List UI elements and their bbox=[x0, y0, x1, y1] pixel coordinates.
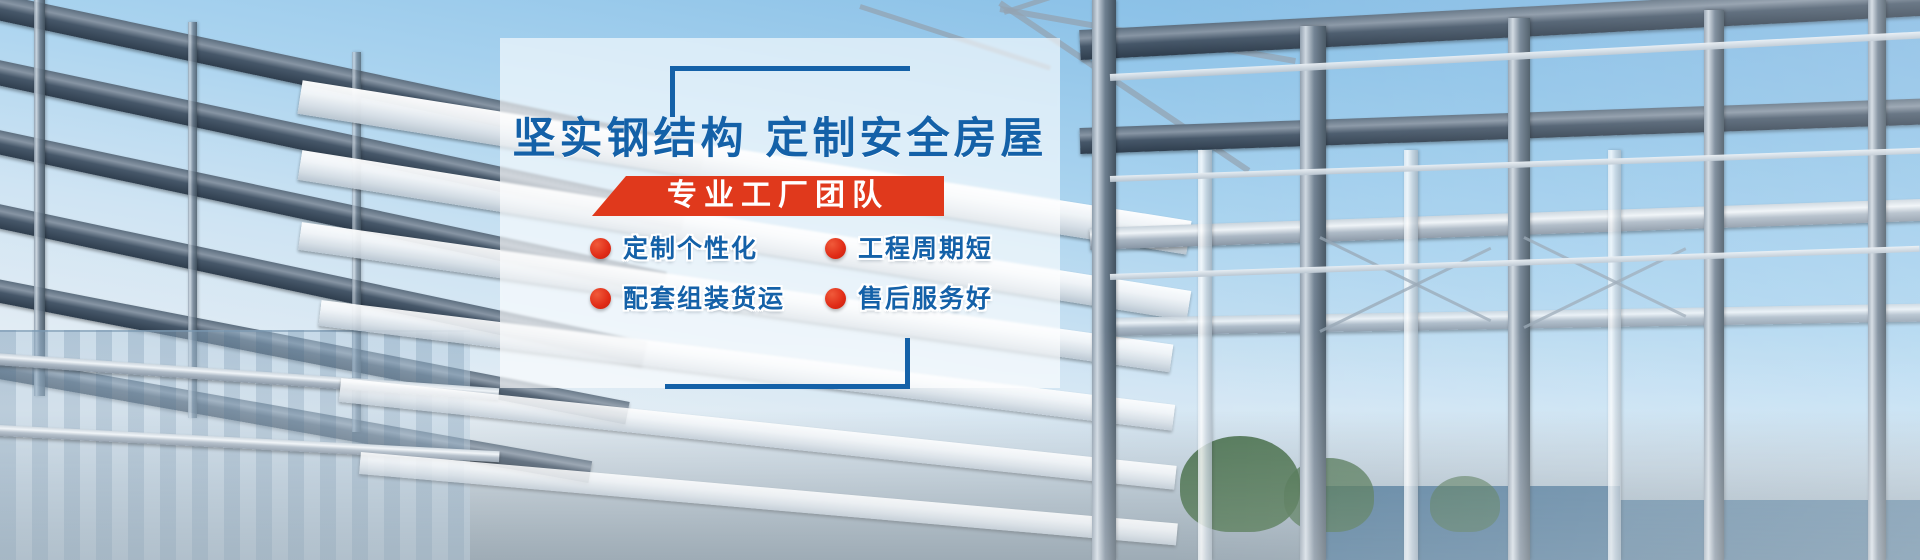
tree-cluster bbox=[1284, 458, 1374, 532]
page-title: 坚实钢结构定制安全房屋 bbox=[500, 118, 1060, 161]
steel-column bbox=[1868, 0, 1886, 560]
feature-label: 售后服务好 bbox=[858, 286, 993, 311]
steel-column bbox=[1508, 18, 1530, 560]
steel-column bbox=[1608, 150, 1621, 560]
feature-item: 工程周期短 bbox=[825, 228, 1060, 268]
red-dot-icon bbox=[825, 288, 846, 309]
steel-column bbox=[1300, 26, 1326, 560]
feature-label: 工程周期短 bbox=[858, 236, 993, 261]
steel-column bbox=[1404, 150, 1418, 560]
promo-banner: 坚实钢结构定制安全房屋 专业工厂团队 定制个性化 工程周期短 配套组装货运 售后… bbox=[0, 0, 1920, 560]
tree-cluster bbox=[1430, 476, 1500, 532]
corner-bracket-bottom-left-icon bbox=[665, 338, 910, 389]
feature-label: 配套组装货运 bbox=[623, 286, 785, 311]
feature-item: 定制个性化 bbox=[590, 228, 825, 268]
ribbon-label: 专业工厂团队 bbox=[647, 181, 889, 211]
feature-item: 配套组装货运 bbox=[590, 278, 825, 318]
feature-label: 定制个性化 bbox=[623, 236, 758, 261]
headline-part-2: 定制安全房屋 bbox=[766, 114, 1048, 164]
headline-part-1: 坚实钢结构 bbox=[513, 114, 748, 164]
ribbon-badge: 专业工厂团队 bbox=[592, 176, 944, 216]
red-dot-icon bbox=[590, 288, 611, 309]
steel-column bbox=[1092, 0, 1116, 560]
steel-column bbox=[1198, 150, 1212, 560]
red-dot-icon bbox=[590, 238, 611, 259]
feature-item: 售后服务好 bbox=[825, 278, 1060, 318]
corner-bracket-top-right-icon bbox=[670, 66, 910, 117]
steel-column bbox=[1704, 10, 1724, 560]
feature-list: 定制个性化 工程周期短 配套组装货运 售后服务好 bbox=[500, 228, 1060, 308]
red-dot-icon bbox=[825, 238, 846, 259]
